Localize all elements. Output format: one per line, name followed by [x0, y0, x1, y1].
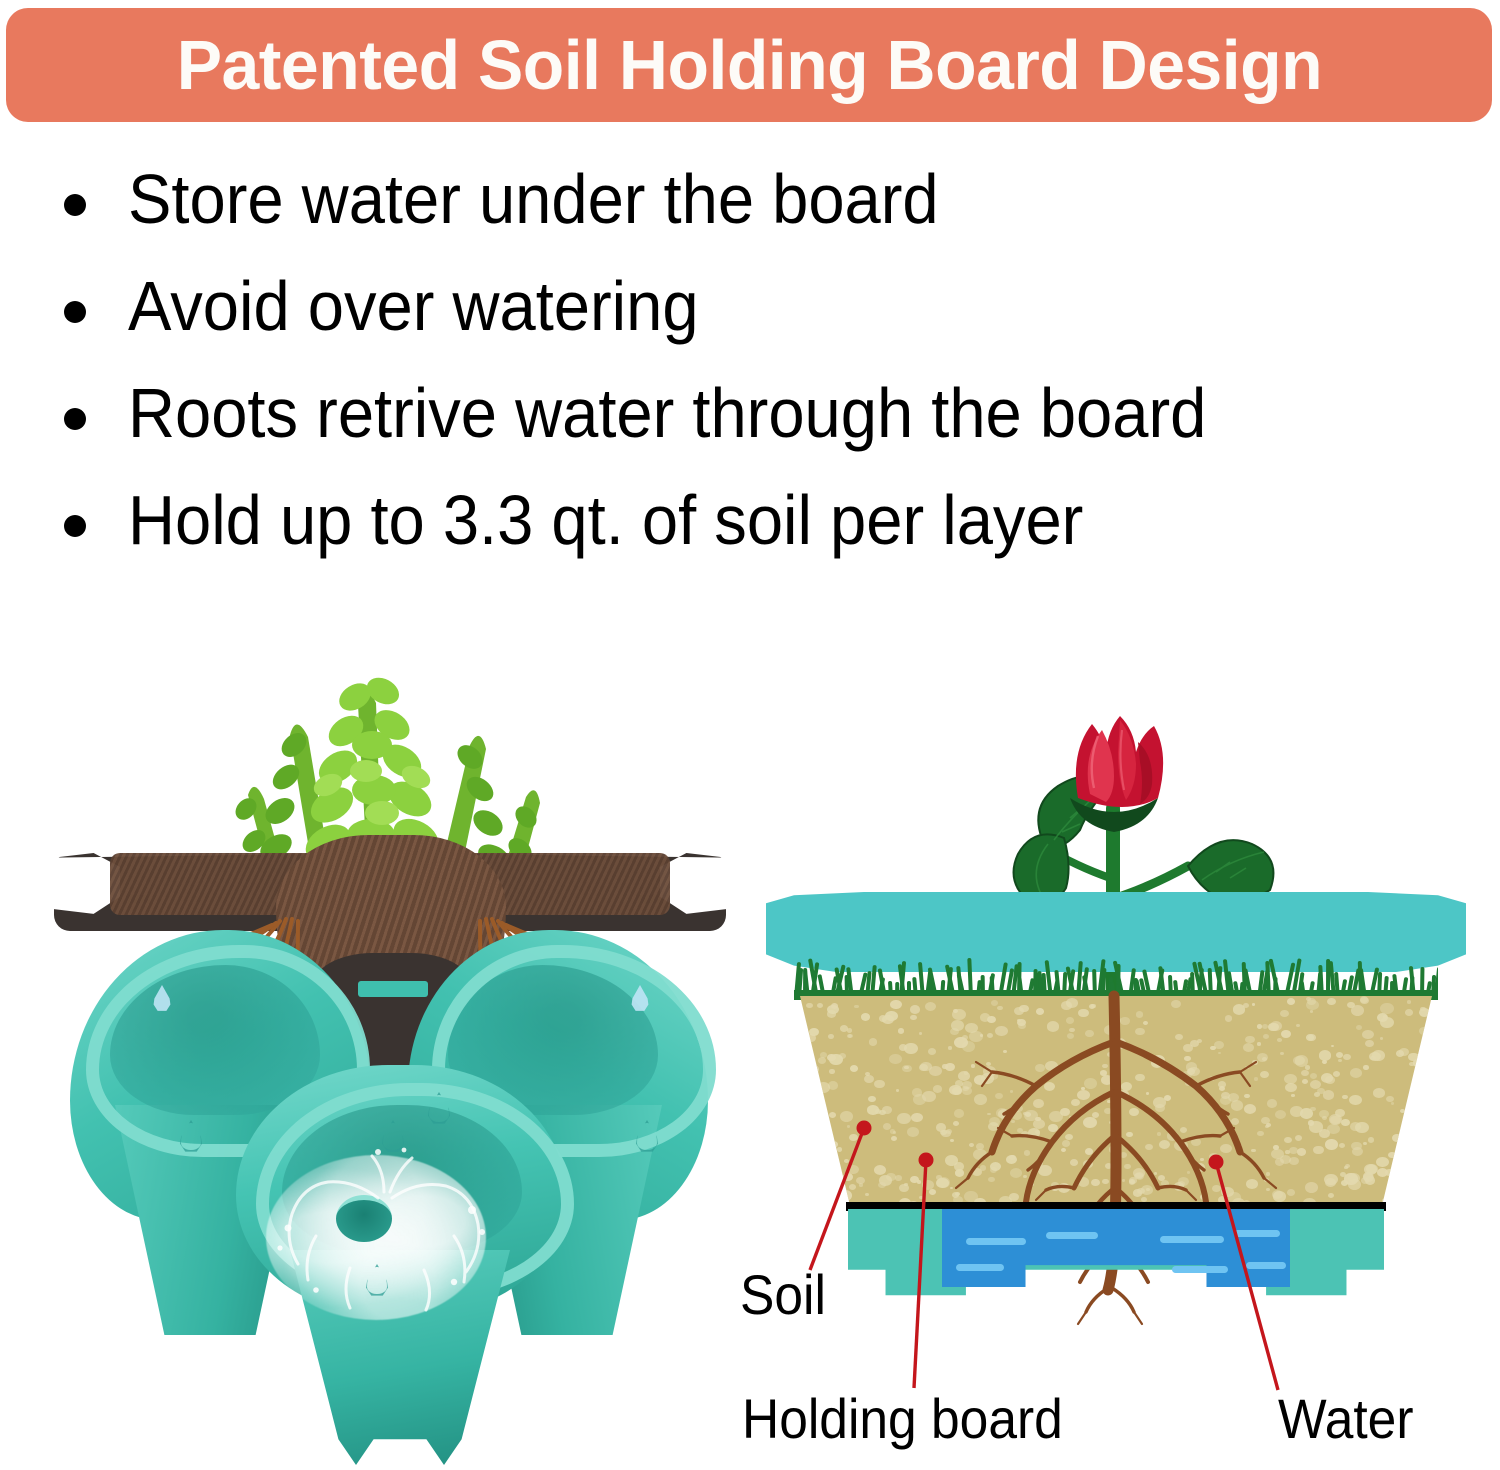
- header-banner: Patented Soil Holding Board Design: [6, 8, 1492, 122]
- water-wave: [1160, 1236, 1224, 1243]
- bullet-text: Roots retrive water through the board: [128, 370, 1206, 458]
- bullet-text: Avoid over watering: [128, 263, 699, 351]
- drain-hole: [336, 1195, 392, 1242]
- feature-bullet-list: Store water under the board Avoid over w…: [56, 150, 1456, 578]
- bullet-text: Hold up to 3.3 qt. of soil per layer: [128, 477, 1083, 565]
- water-wave: [1246, 1262, 1286, 1269]
- planter-cross-section-diagram: [760, 690, 1480, 1470]
- water-wave: [1046, 1232, 1098, 1239]
- bullet-dot-icon: [64, 515, 86, 537]
- list-item: Avoid over watering: [56, 257, 1456, 364]
- bullet-text: Store water under the board: [128, 156, 939, 244]
- page-title: Patented Soil Holding Board Design: [176, 30, 1321, 100]
- bullet-dot-icon: [64, 301, 86, 323]
- list-item: Hold up to 3.3 qt. of soil per layer: [56, 471, 1456, 578]
- list-item: Store water under the board: [56, 150, 1456, 257]
- label-water: Water: [1278, 1386, 1413, 1451]
- label-holding-board: Holding board: [742, 1386, 1063, 1451]
- label-soil: Soil: [740, 1262, 826, 1327]
- list-item: Roots retrive water through the board: [56, 364, 1456, 471]
- water-wave: [1234, 1230, 1280, 1237]
- water-wave: [956, 1264, 1004, 1271]
- bullet-dot-icon: [64, 194, 86, 216]
- root-system-illustration: [760, 690, 1480, 1470]
- product-photo-stacked-planter: [40, 585, 740, 1465]
- bullet-dot-icon: [64, 408, 86, 430]
- water-wave: [966, 1238, 1026, 1245]
- water-wave: [1172, 1266, 1228, 1273]
